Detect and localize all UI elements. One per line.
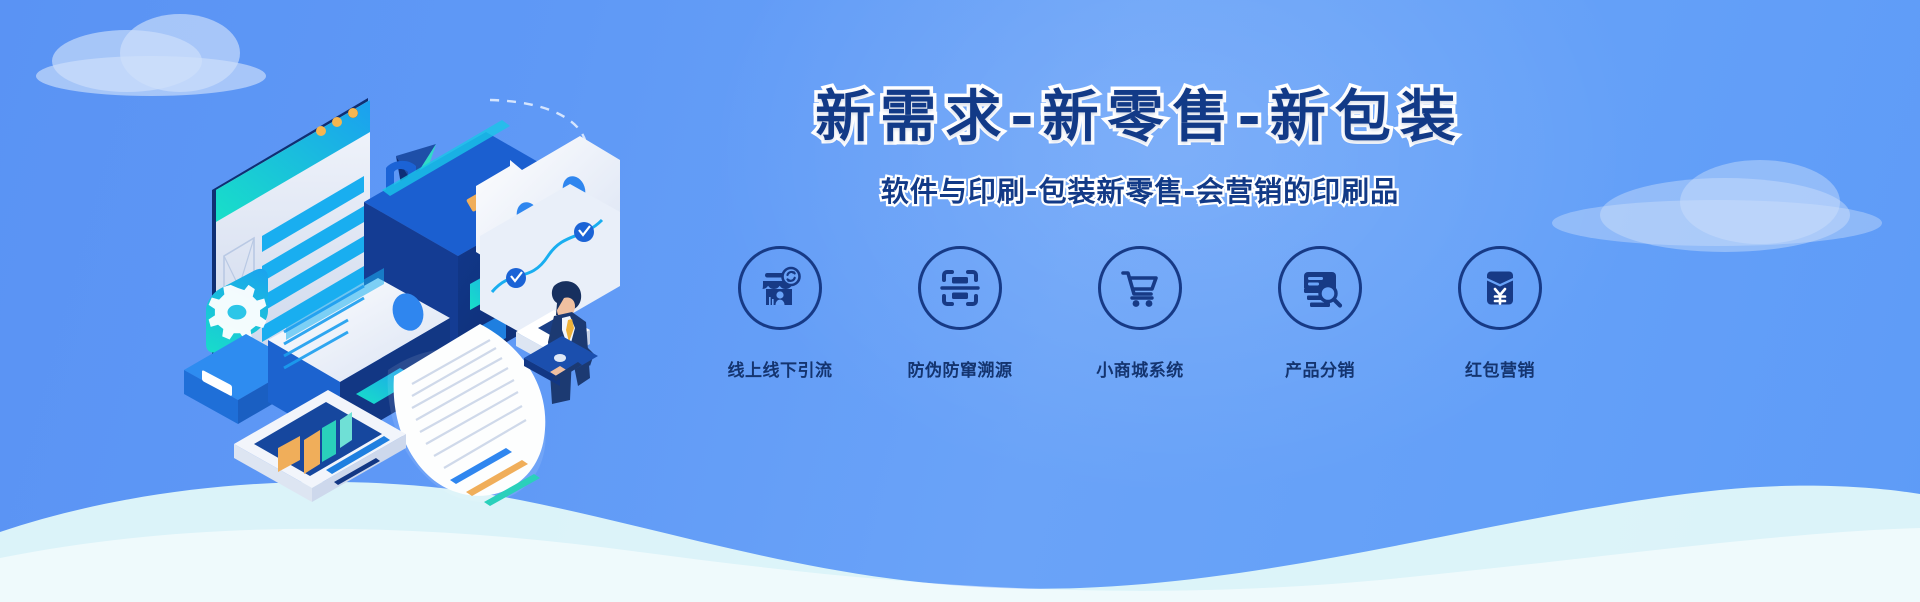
banner-headline: 新需求-新零售-新包装	[815, 82, 1464, 154]
feature-item-anti-counterfeit[interactable]: 防伪防窜溯源	[885, 246, 1035, 381]
document-search-icon	[1278, 246, 1362, 330]
hero-illustration	[150, 40, 620, 520]
feature-item-distribution[interactable]: 产品分销	[1245, 246, 1395, 381]
feature-label: 小商城系统	[1096, 356, 1184, 381]
feature-label: 防伪防窜溯源	[908, 356, 1013, 381]
feature-item-mini-mall[interactable]: 小商城系统	[1065, 246, 1215, 381]
storefront-refresh-icon	[738, 246, 822, 330]
banner-subtitle: 软件与印刷-包装新零售-会营销的印刷品	[881, 170, 1399, 210]
banner-content: 新需求-新零售-新包装 软件与印刷-包装新零售-会营销的印刷品	[640, 82, 1640, 512]
red-envelope-yuan-icon	[1458, 246, 1542, 330]
barcode-scan-icon	[918, 246, 1002, 330]
feature-item-red-packet[interactable]: 红包营销	[1425, 246, 1575, 381]
shopping-cart-icon	[1098, 246, 1182, 330]
feature-list: 线上线下引流 防伪防窜溯源	[705, 246, 1575, 381]
feature-item-online-offline[interactable]: 线上线下引流	[705, 246, 855, 381]
feature-label: 红包营销	[1465, 356, 1535, 381]
feature-label: 产品分销	[1285, 356, 1355, 381]
promo-banner: 新需求-新零售-新包装 软件与印刷-包装新零售-会营销的印刷品	[0, 0, 1920, 602]
feature-label: 线上线下引流	[728, 356, 833, 381]
